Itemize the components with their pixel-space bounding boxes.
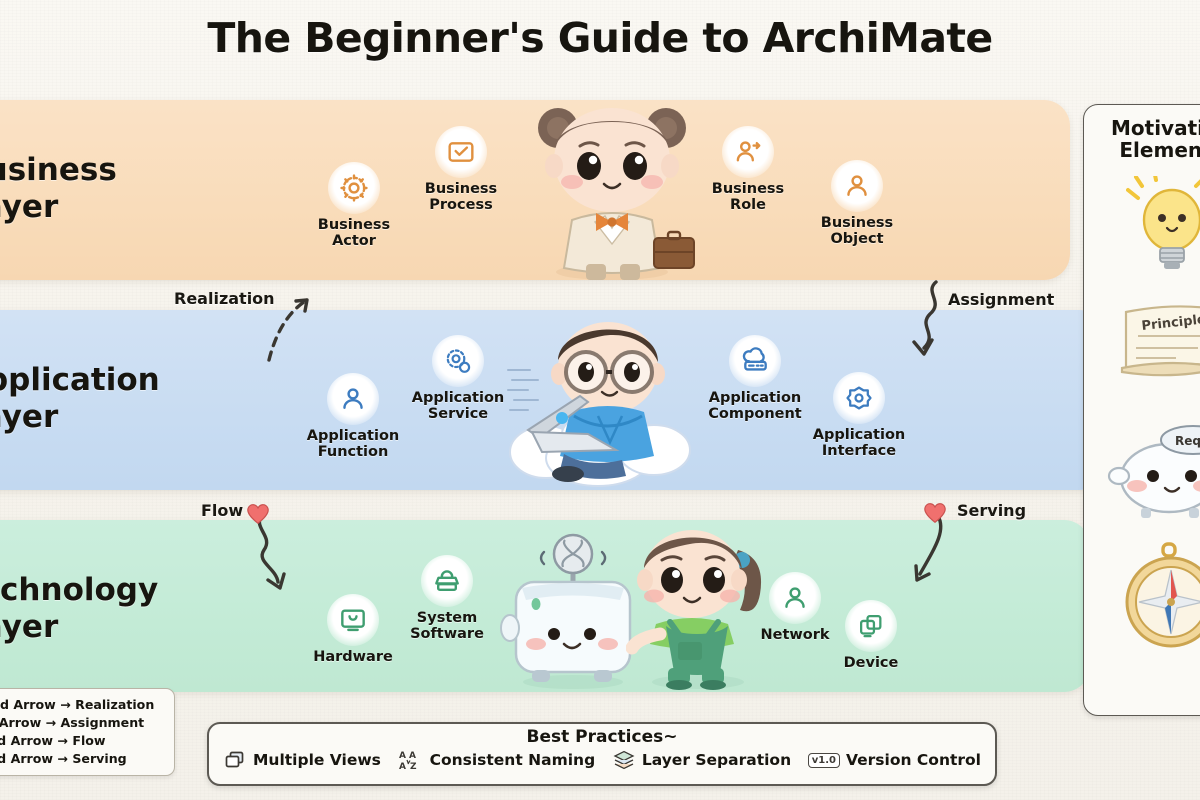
- layer-label-technology: TechnologyLayer: [0, 572, 158, 645]
- compass-icon: [1117, 542, 1200, 654]
- best-practice-multiple-views[interactable]: Multiple Views: [223, 748, 381, 772]
- stack-drive-icon: [421, 555, 473, 607]
- svg-text:A: A: [399, 762, 406, 772]
- best-practices-bar: Best Practices~ Multiple Views A A A Z C…: [207, 722, 997, 786]
- element-label: ApplicationInterface: [795, 427, 923, 459]
- element-label: BusinessActor: [290, 217, 418, 249]
- element-application-interface[interactable]: ApplicationInterface: [795, 372, 923, 459]
- windows-icon: [223, 748, 247, 772]
- business-person-character: [512, 96, 712, 282]
- element-business-object[interactable]: BusinessObject: [793, 160, 921, 247]
- best-practice-label: Multiple Views: [253, 751, 381, 769]
- svg-text:A: A: [409, 751, 416, 761]
- interface-node-icon: [833, 372, 885, 424]
- infographic-page: The Beginner's Guide to ArchiMate Busine…: [0, 0, 1200, 800]
- element-label: Hardware: [289, 649, 417, 665]
- best-practice-version-control[interactable]: v1.0 Version Control: [808, 751, 981, 769]
- best-practice-label: Consistent Naming: [430, 751, 596, 769]
- page-title: The Beginner's Guide to ArchiMate: [0, 14, 1200, 62]
- element-label: Device: [807, 655, 935, 671]
- relation-label-flow: Flow: [201, 501, 243, 520]
- legend-box: Dashed Arrow → Realization Wavy Arrow → …: [0, 688, 175, 776]
- person-icon: [327, 373, 379, 425]
- element-label: SystemSoftware: [383, 610, 511, 642]
- gears-icon: [432, 335, 484, 387]
- best-practice-layer-separation[interactable]: Layer Separation: [612, 748, 791, 772]
- best-practice-label: Version Control: [846, 751, 981, 769]
- scroll-icon: Principle: [1112, 298, 1200, 394]
- best-practice-consistent-naming[interactable]: A A A Z Consistent Naming: [398, 748, 596, 772]
- legend-row: Curved Arrow → Flow: [0, 732, 166, 750]
- engineer-girl-character: [626, 518, 776, 690]
- svg-text:Requirement: Requirement: [1175, 434, 1200, 448]
- person-icon: [831, 160, 883, 212]
- svg-text:Z: Z: [410, 762, 417, 772]
- layers-icon: [612, 748, 636, 772]
- developer-character: [498, 312, 708, 488]
- best-practices-title: Best Practices~: [209, 727, 995, 747]
- serving-arrow: [896, 512, 966, 604]
- legend-row: Wavy Arrow → Assignment: [0, 714, 166, 732]
- legend-row: Dashed Arrow → Realization: [0, 696, 166, 714]
- motivation-item-compass[interactable]: [1084, 542, 1200, 650]
- layer-label-application: ApplicationLayer: [0, 362, 160, 435]
- monitor-icon: [327, 594, 379, 646]
- motivation-item-principle[interactable]: Principle: [1084, 298, 1200, 406]
- version-badge-icon: v1.0: [808, 753, 840, 768]
- relation-label-assignment: Assignment: [948, 290, 1054, 309]
- element-device[interactable]: Device: [807, 600, 935, 671]
- az-sort-icon: A A A Z: [398, 748, 424, 772]
- envelope-check-icon: [435, 126, 487, 178]
- heart-icon-flow: [245, 501, 271, 525]
- relation-label-realization: Realization: [174, 289, 275, 308]
- lightbulb-icon: [1126, 176, 1200, 276]
- legend-row: Curved Arrow → Serving: [0, 750, 166, 768]
- element-system-software[interactable]: SystemSoftware: [383, 555, 511, 642]
- layer-label-business: BusinessLayer: [0, 152, 117, 225]
- motivation-item-lightbulb[interactable]: [1084, 176, 1200, 284]
- motivation-title: MotivationElements: [1084, 117, 1200, 162]
- element-business-process[interactable]: BusinessProcess: [397, 126, 525, 213]
- devices-icon: [845, 600, 897, 652]
- motivation-panel: MotivationElements Princ: [1083, 104, 1200, 716]
- element-label: BusinessObject: [793, 215, 921, 247]
- element-label: BusinessProcess: [397, 181, 525, 213]
- motivation-item-requirement[interactable]: Requirement: [1084, 420, 1200, 528]
- cloud-server-icon: [729, 335, 781, 387]
- blob-icon: Requirement: [1107, 420, 1200, 520]
- element-label: ApplicationFunction: [289, 428, 417, 460]
- svg-text:A: A: [399, 751, 406, 761]
- best-practice-label: Layer Separation: [642, 751, 791, 769]
- person-role-icon: [722, 126, 774, 178]
- gear-icon: [328, 162, 380, 214]
- heart-icon-serving: [922, 500, 948, 524]
- relation-label-serving: Serving: [957, 501, 1026, 520]
